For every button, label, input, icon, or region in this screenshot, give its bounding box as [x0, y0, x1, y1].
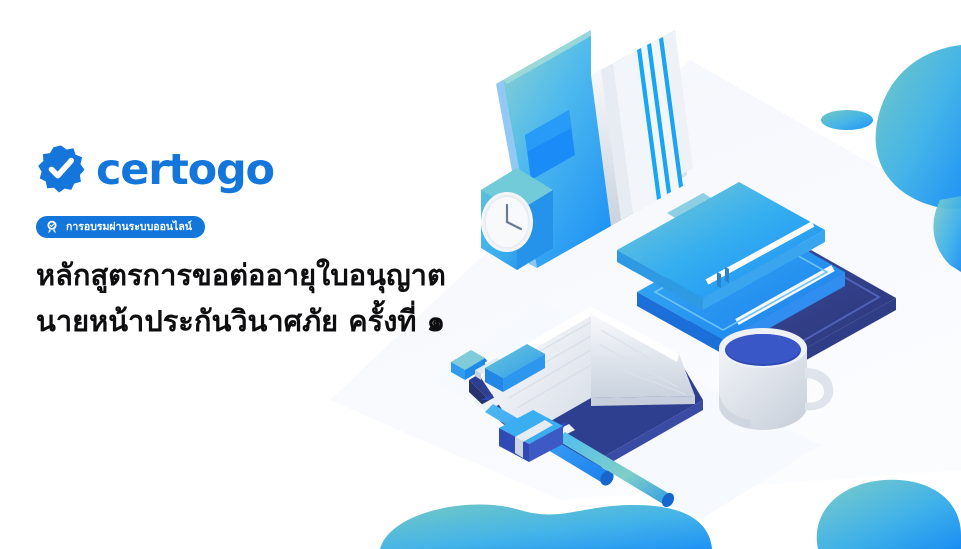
badge-label: การอบรมผ่านระบบออนไลน์: [66, 220, 192, 234]
online-training-badge: การอบรมผ่านระบบออนไลน์: [36, 216, 205, 238]
certified-seal-check-icon: [36, 144, 86, 194]
brand-logo[interactable]: certogo: [36, 140, 506, 198]
headline-line-2: นายหน้าประกันวินาศภัย ครั้งที่ ๑: [36, 298, 506, 344]
isometric-study-illustration: [441, 0, 961, 549]
award-medal-icon: [45, 220, 59, 234]
banner-content: certogo การอบรมผ่านระบบออนไลน์ หลักสูตรก…: [36, 140, 506, 344]
headline-line-1: หลักสูตรการขอต่ออายุใบอนุญาต: [36, 252, 506, 298]
brand-wordmark: certogo: [96, 149, 274, 192]
page-title: หลักสูตรการขอต่ออายุใบอนุญาต นายหน้าประก…: [36, 252, 506, 344]
course-banner: certogo การอบรมผ่านระบบออนไลน์ หลักสูตรก…: [0, 0, 961, 549]
